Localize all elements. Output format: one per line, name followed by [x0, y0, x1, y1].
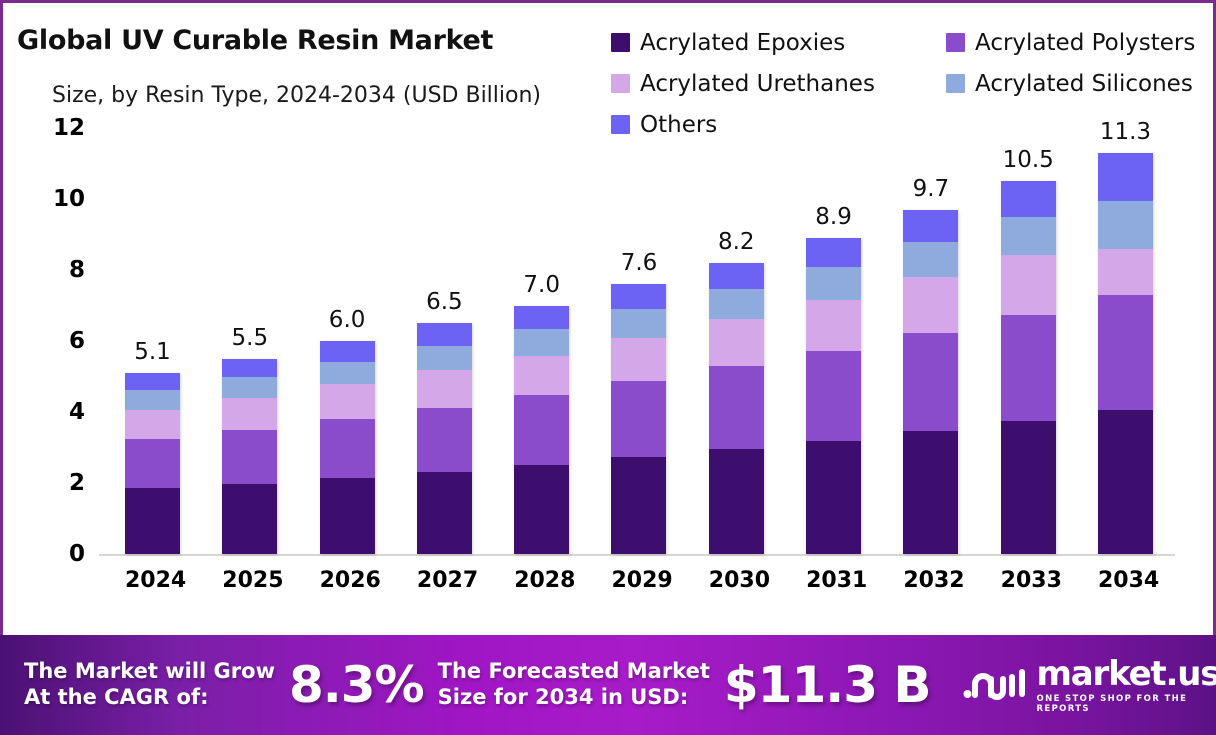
bar-segment[interactable] [709, 319, 764, 366]
bar-segment[interactable] [903, 431, 958, 554]
x-axis-tick-2026: 2026 [320, 568, 375, 593]
cagr-value: 8.3% [289, 656, 424, 714]
y-axis-tick-6: 6 [69, 328, 85, 354]
forecast-label-line1: The Forecasted Market [438, 659, 710, 683]
bar-segment[interactable] [125, 439, 180, 489]
market-us-logo-icon [963, 665, 1027, 705]
bar-segment[interactable] [1001, 181, 1056, 217]
legend-item-0[interactable]: Acrylated Epoxies [611, 22, 946, 63]
bar-segment[interactable] [903, 277, 958, 332]
bar-segment[interactable] [806, 441, 861, 554]
bar-segment[interactable] [611, 309, 666, 337]
bar-group-2034[interactable]: 11.3 [1098, 128, 1153, 554]
bar-value-label: 9.7 [913, 176, 950, 202]
y-axis-tick-10: 10 [53, 186, 85, 212]
y-axis-tick-2: 2 [69, 470, 85, 496]
cagr-label: The Market will Grow At the CAGR of: [24, 659, 275, 710]
bar-segment[interactable] [1098, 249, 1153, 296]
bar-group-2024[interactable]: 5.1 [125, 128, 180, 554]
y-axis-tick-4: 4 [69, 399, 85, 425]
forecast-label: The Forecasted Market Size for 2034 in U… [438, 659, 710, 710]
logo-name: market.us [1037, 657, 1216, 691]
cagr-label-line1: The Market will Grow [24, 659, 275, 683]
bar-segment[interactable] [222, 398, 277, 430]
bar-segment[interactable] [806, 351, 861, 442]
bar-segment[interactable] [320, 384, 375, 418]
bar-segment[interactable] [1098, 410, 1153, 554]
bar-segment[interactable] [611, 457, 666, 554]
x-axis-tick-2025: 2025 [222, 568, 277, 593]
x-axis-tick-2029: 2029 [611, 568, 666, 593]
bar-segment[interactable] [514, 465, 569, 554]
bar-segment[interactable] [903, 242, 958, 278]
bar-segment[interactable] [709, 263, 764, 289]
bar-segment[interactable] [806, 300, 861, 351]
bar-segment[interactable] [709, 366, 764, 449]
bar-segment[interactable] [417, 408, 472, 473]
bar-group-2029[interactable]: 7.6 [611, 128, 666, 554]
bar-group-2025[interactable]: 5.5 [222, 128, 277, 554]
bar-segment[interactable] [514, 329, 569, 355]
legend-swatch-icon [946, 33, 965, 52]
x-axis-tick-2030: 2030 [709, 568, 764, 593]
bar-segment[interactable] [514, 395, 569, 465]
legend-swatch-icon [611, 33, 630, 52]
bar-value-label: 7.6 [621, 250, 658, 276]
x-axis-tick-2031: 2031 [806, 568, 861, 593]
legend-item-2[interactable]: Acrylated Urethanes [611, 63, 946, 104]
cagr-label-line2: At the CAGR of: [24, 685, 209, 709]
chart-infographic: Global UV Curable Resin Market Size, by … [0, 0, 1216, 735]
bar-segment[interactable] [611, 381, 666, 457]
bar-group-2031[interactable]: 8.9 [806, 128, 861, 554]
bar-segment[interactable] [125, 488, 180, 554]
bar-group-2027[interactable]: 6.5 [417, 128, 472, 554]
bar-segment[interactable] [320, 478, 375, 554]
y-axis-tick-12: 12 [53, 115, 85, 141]
bar-group-2033[interactable]: 10.5 [1001, 128, 1056, 554]
x-axis-tick-2024: 2024 [125, 568, 180, 593]
forecast-label-line2: Size for 2034 in USD: [438, 685, 689, 709]
bar-value-label: 5.5 [232, 325, 269, 351]
bar-value-label: 8.9 [815, 204, 852, 230]
legend-swatch-icon [611, 74, 630, 93]
x-axis-tick-2032: 2032 [903, 568, 958, 593]
legend-label: Acrylated Silicones [975, 71, 1193, 97]
y-axis-tick-0: 0 [69, 541, 85, 567]
x-axis-tick-2028: 2028 [514, 568, 569, 593]
bar-value-label: 6.5 [426, 289, 463, 315]
legend-label: Acrylated Polysters [975, 30, 1195, 56]
x-axis-tick-2027: 2027 [417, 568, 472, 593]
footer-banner: The Market will Grow At the CAGR of: 8.3… [0, 635, 1216, 735]
market-us-logo[interactable]: market.us ONE STOP SHOP FOR THE REPORTS [963, 657, 1216, 714]
bar-segment[interactable] [125, 390, 180, 410]
bar-segment[interactable] [222, 484, 277, 554]
bar-segment[interactable] [417, 370, 472, 408]
bar-series-container: 5.15.56.06.57.07.68.28.99.710.511.3 [99, 128, 1179, 554]
bar-segment[interactable] [417, 346, 472, 370]
bar-segment[interactable] [709, 449, 764, 554]
legend-label: Acrylated Epoxies [640, 30, 845, 56]
y-axis-tick-8: 8 [69, 257, 85, 283]
page-subtitle: Size, by Resin Type, 2024-2034 (USD Bill… [52, 83, 541, 108]
x-axis-tick-2033: 2033 [1001, 568, 1056, 593]
bar-segment[interactable] [806, 238, 861, 266]
legend-swatch-icon [946, 74, 965, 93]
bar-value-label: 6.0 [329, 307, 366, 333]
bar-segment[interactable] [1098, 295, 1153, 409]
x-axis: 2024202520262027202820292030203120322033… [99, 568, 1179, 593]
bar-segment[interactable] [222, 430, 277, 484]
bar-segment[interactable] [320, 362, 375, 384]
x-axis-line [99, 554, 1175, 556]
bar-segment[interactable] [1098, 153, 1153, 201]
bar-segment[interactable] [806, 267, 861, 300]
y-axis: 024681012 [3, 128, 99, 554]
page-title: Global UV Curable Resin Market [17, 25, 493, 56]
bar-segment[interactable] [320, 419, 375, 478]
bar-segment[interactable] [320, 341, 375, 362]
bar-segment[interactable] [125, 373, 180, 390]
bar-group-2032[interactable]: 9.7 [903, 128, 958, 554]
bar-segment[interactable] [514, 356, 569, 396]
bar-group-2026[interactable]: 6.0 [320, 128, 375, 554]
logo-tagline: ONE STOP SHOP FOR THE REPORTS [1037, 694, 1216, 714]
x-axis-tick-2034: 2034 [1098, 568, 1153, 593]
bar-group-2028[interactable]: 7.0 [514, 128, 569, 554]
bar-segment[interactable] [1001, 315, 1056, 421]
bar-group-2030[interactable]: 8.2 [709, 128, 764, 554]
bar-segment[interactable] [903, 210, 958, 242]
bar-segment[interactable] [611, 338, 666, 381]
bar-segment[interactable] [417, 472, 472, 554]
chart-plot-area: 024681012 5.15.56.06.57.07.68.28.99.710.… [3, 128, 1213, 568]
bar-segment[interactable] [125, 410, 180, 439]
bar-segment[interactable] [417, 323, 472, 346]
forecast-value: $11.3 B [724, 656, 931, 714]
bar-segment[interactable] [222, 377, 277, 398]
bar-segment[interactable] [709, 289, 764, 320]
bar-value-label: 11.3 [1100, 119, 1151, 145]
bar-value-label: 7.0 [523, 272, 560, 298]
bar-value-label: 10.5 [1003, 147, 1054, 173]
bar-value-label: 8.2 [718, 229, 755, 255]
bar-segment[interactable] [903, 333, 958, 431]
bar-segment[interactable] [1098, 201, 1153, 249]
bar-segment[interactable] [514, 306, 569, 330]
legend-item-1[interactable]: Acrylated Polysters [946, 22, 1211, 63]
legend-item-3[interactable]: Acrylated Silicones [946, 63, 1211, 104]
legend-label: Acrylated Urethanes [640, 71, 875, 97]
bar-segment[interactable] [222, 359, 277, 377]
bar-value-label: 5.1 [134, 339, 171, 365]
bar-segment[interactable] [1001, 255, 1056, 315]
bar-segment[interactable] [1001, 217, 1056, 255]
bar-segment[interactable] [611, 284, 666, 309]
bar-segment[interactable] [1001, 421, 1056, 554]
